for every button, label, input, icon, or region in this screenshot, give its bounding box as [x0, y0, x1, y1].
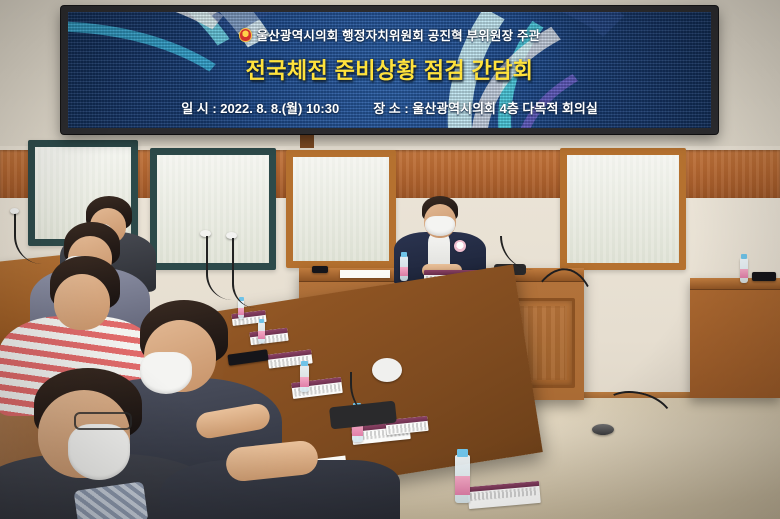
desk-device-corner: [752, 272, 776, 281]
water-bottle-table: [300, 365, 309, 392]
led-organizer-text: 울산광역시의회 행정자치위원회 공진혁 부위원장 주관: [257, 25, 541, 44]
water-bottle-corner: [740, 258, 748, 283]
chairperson-face-mask: [425, 216, 455, 236]
attendee-face-mask: [68, 424, 130, 480]
head-table-device: [312, 266, 328, 273]
window-right: [560, 148, 686, 270]
window-center-left: [286, 150, 396, 268]
led-line-organizer: 울산광역시의회 행정자치위원회 공진혁 부위원장 주관: [239, 25, 541, 44]
led-datetime: 일 시 : 2022. 8. 8.(월) 10:30: [181, 98, 339, 117]
led-display-frame: 울산광역시의회 행정자치위원회 공진혁 부위원장 주관 전국체전 준비상황 점검…: [61, 6, 718, 134]
lectern-mic-head-icon: [10, 208, 19, 214]
table-mic-gooseneck: [232, 238, 256, 308]
led-location: 장 소 : 울산광역시의회 4층 다목적 회의실: [373, 98, 598, 117]
water-bottle-table: [455, 455, 470, 503]
attendee: [160, 400, 380, 519]
led-display: 울산광역시의회 행정자치위원회 공진혁 부위원장 주관 전국체전 준비상황 점검…: [68, 12, 711, 128]
led-details-row: 일 시 : 2022. 8. 8.(월) 10:30 장 소 : 울산광역시의회…: [181, 98, 598, 117]
attendee-glasses-icon: [74, 412, 132, 430]
meeting-room-photo: 울산광역시의회 행정자치위원회 공진혁 부위원장 주관 전국체전 준비상황 점검…: [0, 0, 780, 519]
head-table-documents: [340, 270, 390, 278]
water-bottle-head-table: [400, 256, 408, 281]
chairperson-lapel-badge: [454, 240, 466, 252]
led-screen-mount: [300, 132, 314, 148]
council-emblem-icon: [239, 28, 252, 42]
corner-desk: [690, 278, 780, 398]
led-main-title: 전국체전 준비상황 점검 간담회: [246, 53, 534, 85]
